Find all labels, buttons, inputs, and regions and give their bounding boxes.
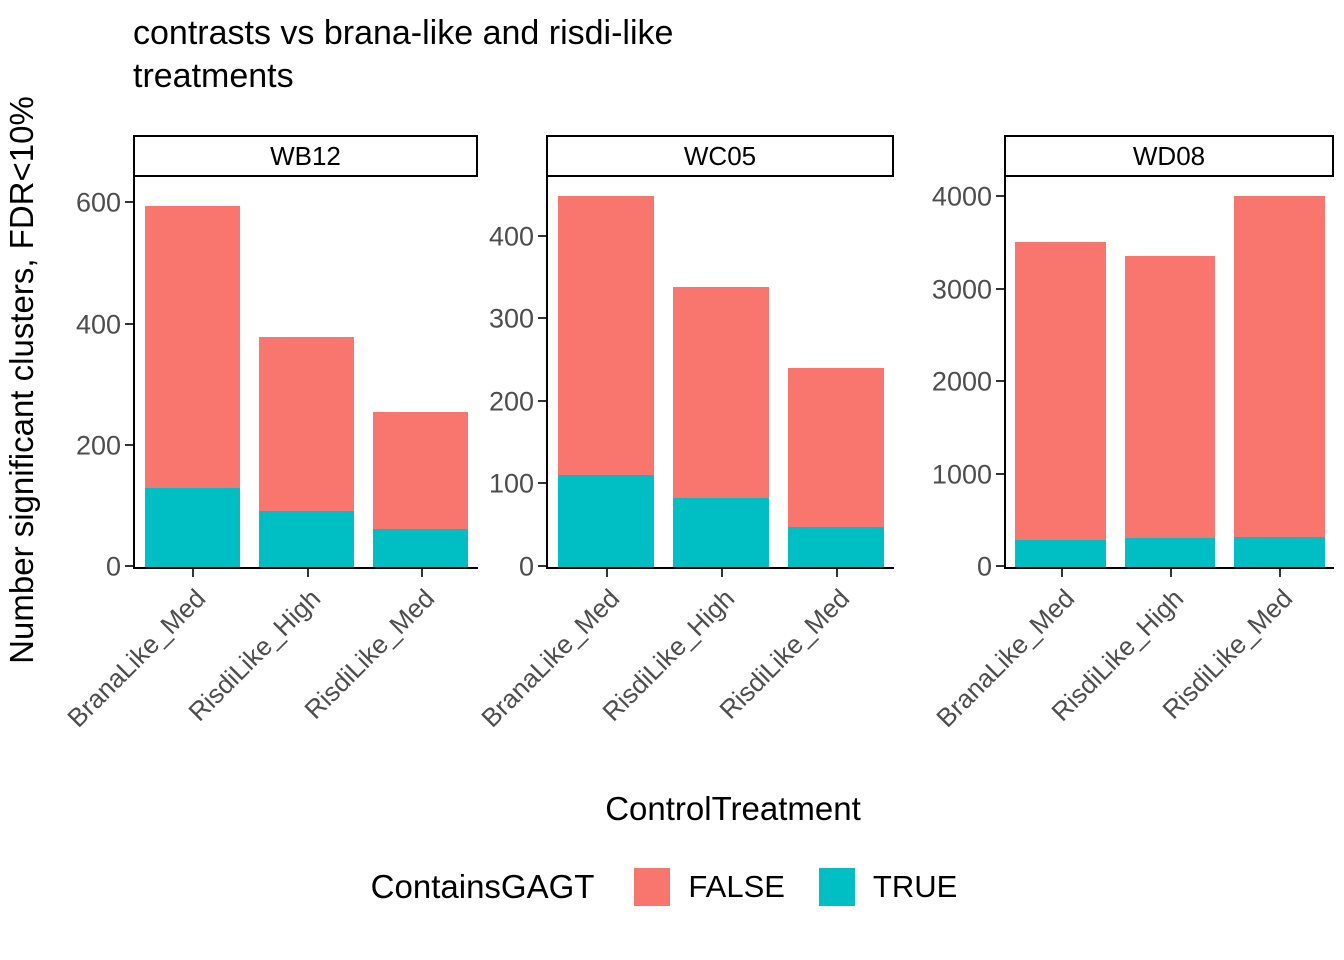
y-tick-mark <box>538 400 546 402</box>
x-tick-mark <box>1279 569 1281 577</box>
bar-stack <box>1125 256 1216 567</box>
bar-segment-false <box>558 196 654 476</box>
y-tick-mark <box>996 473 1004 475</box>
bar-segment-false <box>673 287 769 498</box>
y-axis-title: Number significant clusters, FDR<10% <box>0 0 44 760</box>
facet-strip-label: WC05 <box>546 135 894 177</box>
x-tick-mark <box>421 569 423 577</box>
y-tick-mark <box>996 288 1004 290</box>
y-tick-mark <box>538 235 546 237</box>
bar-segment-true <box>788 527 884 567</box>
y-tick-mark <box>996 195 1004 197</box>
bar-stack <box>145 206 240 567</box>
y-tick-label: 400 <box>76 309 121 340</box>
bar-segment-false <box>145 206 240 489</box>
y-tick-label: 200 <box>76 430 121 461</box>
bar-segment-true <box>1125 538 1216 567</box>
x-tick-label: RisdiLike_High <box>984 583 1190 789</box>
bar-stack <box>1015 242 1106 567</box>
bar-segment-true <box>145 488 240 567</box>
y-tick-label: 3000 <box>932 274 992 305</box>
bar-stack <box>1234 196 1325 567</box>
y-tick-label: 0 <box>106 552 121 583</box>
y-axis-line <box>133 177 135 569</box>
bar-segment-true <box>1234 537 1325 567</box>
x-tick-label: RisdiLike_Med <box>1093 583 1299 789</box>
y-tick-label: 600 <box>76 188 121 219</box>
bar-segment-true <box>1015 540 1106 567</box>
y-tick-mark <box>538 565 546 567</box>
legend-key-swatch-true[interactable] <box>819 868 855 906</box>
facet-strip-label: WD08 <box>1004 135 1334 177</box>
x-tick-label: RisdiLike_Med <box>235 583 441 789</box>
y-tick-mark <box>996 380 1004 382</box>
bar-segment-false <box>788 368 884 527</box>
legend-title: ContainsGAGT <box>371 868 595 906</box>
bar-segment-true <box>558 475 654 567</box>
y-tick-mark <box>125 201 133 203</box>
bar-stack <box>558 196 654 567</box>
facet-strip-label: WB12 <box>133 135 478 177</box>
x-tick-mark <box>1061 569 1063 577</box>
y-tick-mark <box>125 444 133 446</box>
bar-segment-false <box>1015 242 1106 540</box>
plot-area: 01000200030004000 <box>1004 177 1334 569</box>
x-tick-mark <box>192 569 194 577</box>
bar-segment-false <box>373 412 468 528</box>
y-tick-label: 300 <box>489 304 534 335</box>
x-tick-label: BranaLike_Med <box>420 583 626 789</box>
plot-area: 0200400600 <box>133 177 478 569</box>
bar-stack <box>788 368 884 567</box>
y-tick-label: 0 <box>977 552 992 583</box>
x-tick-label: RisdiLike_Med <box>650 583 856 789</box>
y-tick-label: 100 <box>489 469 534 500</box>
x-axis-line <box>133 567 478 569</box>
x-tick-mark <box>1170 569 1172 577</box>
y-tick-label: 0 <box>519 552 534 583</box>
page-title: contrasts vs brana-like and risdi-like t… <box>133 12 1033 98</box>
bar-segment-false <box>1125 256 1216 538</box>
y-tick-label: 4000 <box>932 182 992 213</box>
facet-panel-wc05: WC050100200300400 <box>546 135 894 569</box>
x-tick-label: RisdiLike_High <box>121 583 327 789</box>
x-axis-line <box>1004 567 1334 569</box>
y-axis-line <box>546 177 548 569</box>
y-tick-mark <box>538 482 546 484</box>
x-axis-title: ControlTreatment <box>133 790 1333 828</box>
legend-key-label-true: TRUE <box>873 869 957 905</box>
y-tick-mark <box>996 565 1004 567</box>
bar-stack <box>673 287 769 567</box>
bar-segment-false <box>259 337 354 511</box>
plot-area: 0100200300400 <box>546 177 894 569</box>
bar-segment-true <box>673 498 769 567</box>
x-tick-label: BranaLike_Med <box>875 583 1081 789</box>
y-tick-label: 200 <box>489 386 534 417</box>
bar-segment-false <box>1234 196 1325 537</box>
bar-segment-true <box>259 511 354 567</box>
facet-panel-wb12: WB120200400600 <box>133 135 478 569</box>
y-axis-line <box>1004 177 1006 569</box>
y-tick-label: 2000 <box>932 367 992 398</box>
x-tick-mark <box>606 569 608 577</box>
x-axis-line <box>546 567 894 569</box>
y-tick-label: 1000 <box>932 459 992 490</box>
legend-key-swatch-false[interactable] <box>634 868 670 906</box>
legend-keys: FALSETRUE <box>634 868 973 906</box>
x-tick-mark <box>721 569 723 577</box>
x-tick-mark <box>836 569 838 577</box>
y-tick-mark <box>125 565 133 567</box>
bar-segment-true <box>373 529 468 567</box>
y-tick-mark <box>538 317 546 319</box>
facet-panel-wd08: WD0801000200030004000 <box>1004 135 1334 569</box>
y-tick-mark <box>125 323 133 325</box>
legend-key-label-false: FALSE <box>688 869 785 905</box>
x-tick-mark <box>307 569 309 577</box>
bar-stack <box>259 337 354 567</box>
legend: ContainsGAGT FALSETRUE <box>0 868 1344 906</box>
x-tick-label: RisdiLike_High <box>535 583 741 789</box>
bar-stack <box>373 412 468 567</box>
y-tick-label: 400 <box>489 221 534 252</box>
